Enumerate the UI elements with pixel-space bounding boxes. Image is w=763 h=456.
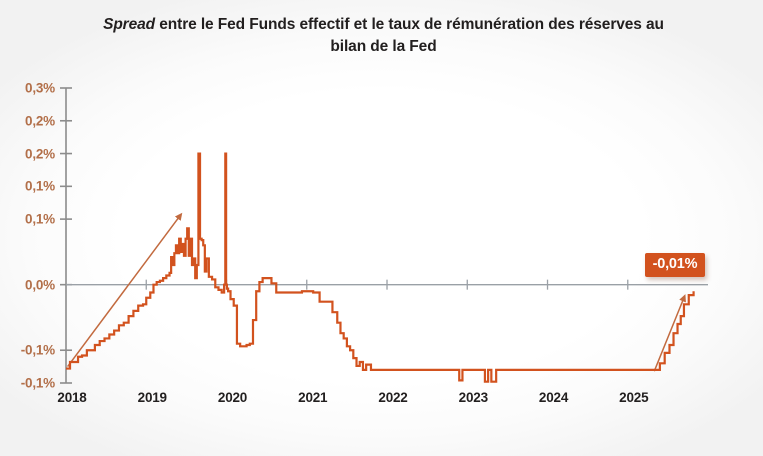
- x-axis-tick-label: 2022: [378, 390, 407, 405]
- x-axis-tick-label: 2025: [619, 390, 648, 405]
- x-axis-tick-label: 2019: [138, 390, 167, 405]
- series-line-spread: [66, 154, 694, 382]
- chart-page: Spread entre le Fed Funds effectif et le…: [0, 0, 763, 456]
- trend-lines: [68, 216, 684, 371]
- chart-plot-area: [0, 0, 763, 456]
- x-axis-tick-label: 2021: [298, 390, 327, 405]
- x-axis-tick-label: 2023: [459, 390, 488, 405]
- last-value-badge: -0,01%: [645, 253, 706, 277]
- x-axis-tick-label: 2020: [218, 390, 247, 405]
- x-axis-tick-label: 2018: [57, 390, 86, 405]
- chart-axes: [60, 88, 72, 383]
- x-axis-tick-label: 2024: [539, 390, 568, 405]
